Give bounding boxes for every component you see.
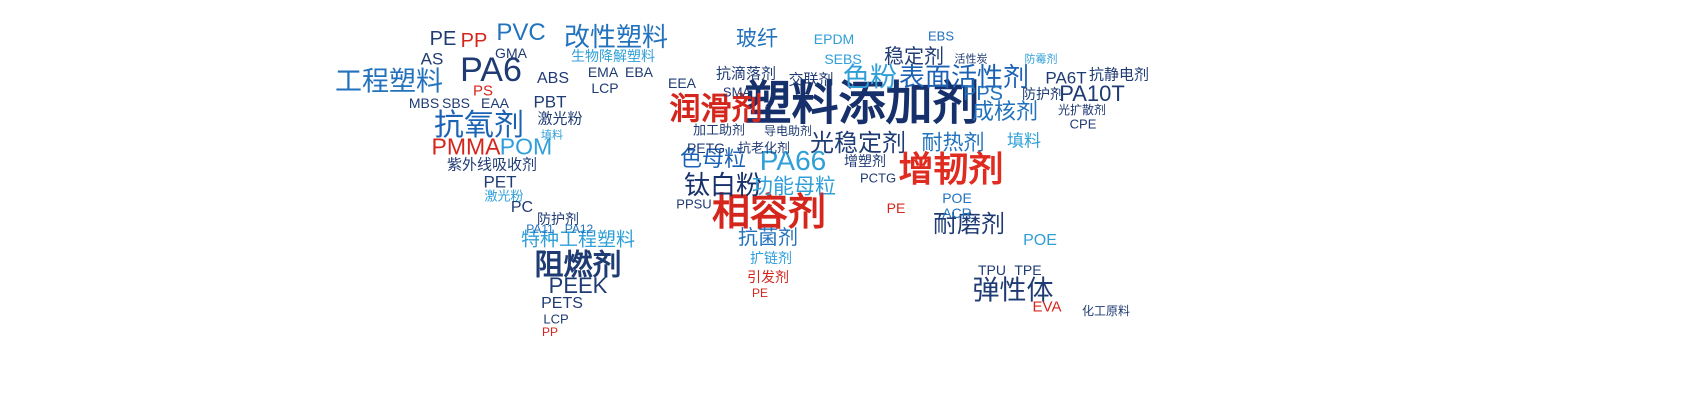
cloud-word[interactable]: 加工助剂 (693, 125, 745, 138)
cloud-word[interactable]: 抗菌剂 (738, 227, 798, 247)
cloud-word[interactable]: 玻纤 (736, 29, 778, 50)
cloud-word[interactable]: 增韧剂 (898, 154, 1003, 189)
cloud-word[interactable]: 填料 (1007, 134, 1041, 151)
cloud-word[interactable]: 紫外线吸收剂 (447, 158, 537, 173)
cloud-word[interactable]: 成核剂 (972, 102, 1038, 124)
cloud-word[interactable]: 扩链剂 (750, 252, 792, 266)
cloud-word[interactable]: PEEK (549, 275, 608, 297)
cloud-word[interactable]: 抗老化剂 (738, 143, 790, 156)
cloud-word[interactable]: PE (430, 29, 457, 49)
cloud-word[interactable]: 引发剂 (747, 271, 789, 285)
cloud-word[interactable]: 防护剂 (1022, 88, 1064, 102)
cloud-word[interactable]: PA11 (526, 223, 554, 235)
cloud-word[interactable]: PCTG (860, 172, 896, 185)
cloud-word[interactable]: PP (542, 326, 558, 338)
cloud-word[interactable]: PPS (963, 84, 1003, 104)
cloud-word[interactable]: SBS (442, 96, 470, 110)
cloud-word[interactable]: MBS (409, 96, 439, 110)
cloud-word[interactable]: ABS (537, 71, 569, 87)
cloud-word[interactable]: PE (887, 201, 906, 215)
cloud-word[interactable]: TPU (978, 263, 1006, 277)
cloud-word[interactable]: GMA (495, 46, 527, 60)
cloud-word[interactable]: PA12 (565, 223, 593, 235)
cloud-word[interactable]: 工程塑料 (335, 69, 443, 96)
cloud-word[interactable]: PP (461, 31, 488, 51)
cloud-word[interactable]: LCP (591, 81, 618, 95)
cloud-word[interactable]: PET (483, 174, 516, 191)
cloud-word[interactable]: EBS (928, 30, 954, 43)
cloud-word[interactable]: EMA (588, 65, 618, 79)
cloud-word[interactable]: 稳定剂 (884, 46, 944, 66)
cloud-word[interactable]: 化工原料 (1082, 305, 1130, 317)
cloud-word[interactable]: PPSU (676, 198, 711, 211)
cloud-word[interactable]: 交联剂 (788, 73, 833, 88)
cloud-word[interactable]: CPE (1070, 118, 1097, 131)
cloud-word[interactable]: POE (1023, 233, 1057, 249)
cloud-word[interactable]: 钛白粉 (684, 173, 762, 199)
cloud-word[interactable]: EBA (625, 65, 653, 79)
cloud-word[interactable]: PVC (496, 21, 545, 45)
cloud-word[interactable]: PC (511, 200, 533, 216)
cloud-word[interactable]: AS (421, 51, 444, 68)
cloud-word[interactable]: TPE (1014, 263, 1041, 277)
cloud-word[interactable]: 活性炭 (955, 54, 988, 65)
word-cloud-canvas: 塑料添加剂相容剂增韧剂润滑剂阻燃剂表面活性剂抗氧剂工程塑料PA6色粉光稳定剂钛白… (0, 0, 1707, 400)
cloud-word[interactable]: 色粉 (843, 65, 897, 92)
cloud-word[interactable]: 光扩散剂 (1058, 104, 1106, 116)
cloud-word[interactable]: 功能母粒 (752, 177, 836, 198)
cloud-word[interactable]: SEBS (824, 52, 861, 66)
cloud-word[interactable]: 激光粉 (537, 112, 582, 127)
cloud-word[interactable]: EAA (481, 96, 509, 110)
cloud-word[interactable]: 导电助剂 (764, 125, 812, 137)
cloud-word[interactable]: POE (942, 191, 972, 205)
cloud-word[interactable]: EEA (668, 76, 696, 90)
cloud-word[interactable]: EVA (1033, 300, 1062, 315)
cloud-word[interactable]: PA6T (1045, 70, 1086, 87)
cloud-word[interactable]: 增塑剂 (844, 155, 886, 169)
cloud-word[interactable]: PETG (687, 141, 725, 155)
cloud-word[interactable]: 填料 (541, 130, 563, 141)
cloud-word[interactable]: 生物降解塑料 (571, 50, 655, 64)
cloud-word[interactable]: PE (752, 287, 768, 299)
cloud-word[interactable]: 抗静电剂 (1089, 68, 1149, 83)
cloud-word[interactable]: LCP (543, 313, 568, 326)
cloud-word[interactable]: PETS (541, 296, 583, 312)
cloud-word[interactable]: EPDM (814, 32, 854, 46)
cloud-word[interactable]: PBT (533, 94, 566, 111)
cloud-word[interactable]: SMA (723, 86, 751, 99)
cloud-word[interactable]: 抗滴落剂 (716, 67, 776, 82)
cloud-word[interactable]: 防霉剂 (1025, 54, 1058, 65)
cloud-word[interactable]: 耐热剂 (922, 133, 985, 154)
cloud-word[interactable]: 改性塑料 (564, 25, 668, 51)
cloud-word[interactable]: ACR (942, 206, 972, 220)
